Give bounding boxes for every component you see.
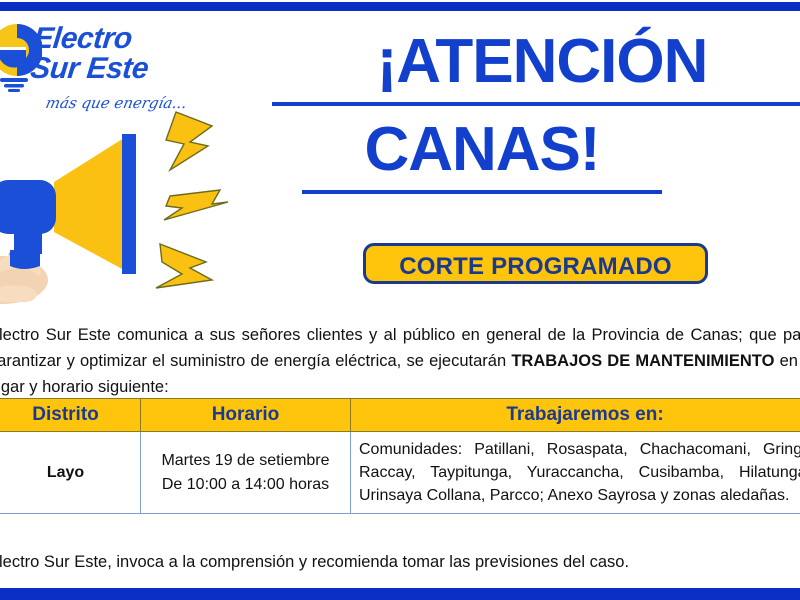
top-blue-rule xyxy=(0,2,800,11)
page-title-line2: CANAS! xyxy=(302,112,662,194)
poster-canvas: Electro Sur Este más que energía... xyxy=(0,0,800,600)
brand-name-line1: Electro xyxy=(32,22,134,55)
brand-logo: Electro Sur Este más que energía... xyxy=(0,18,286,118)
page-title-line1: ¡ATENCIÓN xyxy=(272,24,800,106)
footer-note: Electro Sur Este, invoca a la comprensió… xyxy=(0,550,800,574)
cell-horario-line1: Martes 19 de setiembre xyxy=(149,449,342,473)
intro-paragraph: Electro Sur Este comunica a sus señores … xyxy=(0,322,800,400)
table-row: Layo Martes 19 de setiembre De 10:00 a 1… xyxy=(0,432,800,514)
cell-trabajos: Comunidades: Patillani, Rosaspata, Chach… xyxy=(351,432,800,514)
megaphone-illustration xyxy=(0,104,274,314)
bottom-blue-rule xyxy=(0,588,800,600)
cell-horario: Martes 19 de setiembre De 10:00 a 14:00 … xyxy=(141,432,351,514)
cell-distrito: Layo xyxy=(0,432,141,514)
page-title: ¡ATENCIÓN CANAS! xyxy=(272,24,800,200)
cell-horario-line2: De 10:00 a 14:00 horas xyxy=(149,473,342,497)
table-header-row: Distrito Horario Trabajaremos en: xyxy=(0,399,800,432)
outage-schedule-table: Distrito Horario Trabajaremos en: Layo M… xyxy=(0,398,800,514)
table-header-horario: Horario xyxy=(141,399,351,432)
intro-text-bold: TRABAJOS DE MANTENIMIENTO xyxy=(511,352,774,370)
table-header-distrito: Distrito xyxy=(0,399,141,432)
table-header-trabajos: Trabajaremos en: xyxy=(351,399,800,432)
status-badge: CORTE PROGRAMADO xyxy=(363,243,708,284)
brand-name: Electro Sur Este xyxy=(29,24,153,84)
lightning-bolt-icon xyxy=(156,112,228,288)
brand-name-line2: Sur Este xyxy=(29,54,150,84)
